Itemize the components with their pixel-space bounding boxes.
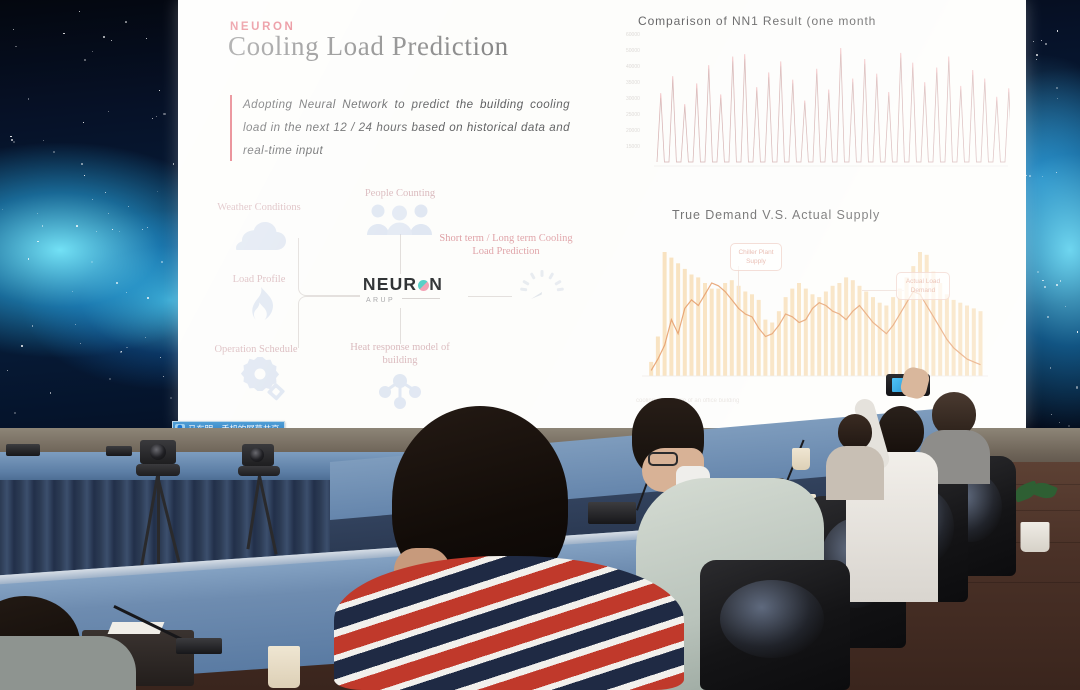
chart-demand-supply-svg — [636, 240, 992, 388]
accent-bar — [230, 95, 232, 161]
cloud-icon — [230, 216, 290, 256]
slide-title: Cooling Load Prediction — [228, 31, 509, 62]
chart-nn1-svg — [652, 32, 1010, 172]
projection-screen: NEURON Cooling Load Prediction Adopting … — [178, 0, 1026, 428]
flow-diagram: Weather Conditions Load Profile Operatio… — [178, 186, 630, 424]
arup-subtitle: ARUP — [338, 297, 468, 304]
chart-demand-supply-plot — [636, 240, 992, 388]
slide-summary-block: Adopting Neural Network to predict the b… — [230, 93, 570, 162]
callout-line-supply — [738, 266, 739, 302]
flame-icon — [244, 286, 278, 330]
connector-heat-model — [400, 308, 401, 344]
diagram-label-people: People Counting — [340, 188, 460, 200]
microphone-base — [176, 638, 222, 654]
neuron-logo: NEURN ARUP — [338, 274, 468, 304]
slide-right-pane: Comparison of NN1 Result (one month 6000… — [630, 0, 1026, 428]
arup-text: ARUP — [366, 297, 395, 304]
diagram-label-prediction: Short term / Long term Cooling Load Pred… — [436, 232, 576, 258]
callout-actual-demand: Actual Load Demand — [896, 272, 950, 300]
diagram-label-operation: Operation Schedule — [192, 344, 320, 356]
chart-title-nn1: Comparison of NN1 Result (one month — [638, 14, 876, 28]
arup-rule — [402, 298, 440, 299]
striped-shirt — [334, 556, 684, 690]
diagram-label-weather: Weather Conditions — [200, 202, 318, 214]
paper-cup — [792, 448, 810, 470]
people-icon — [365, 202, 435, 236]
callout-chiller-supply: Chiller Plant Supply — [730, 243, 782, 271]
chart-title-demand-supply: True Demand V.S. Actual Supply — [672, 208, 880, 222]
microphone-base — [588, 502, 636, 524]
molecule-icon — [374, 370, 426, 410]
gear-icon — [234, 356, 288, 402]
microphone-base — [6, 444, 40, 456]
eyeglasses — [648, 452, 678, 466]
slide-summary-text: Adopting Neural Network to predict the b… — [243, 93, 570, 162]
neuron-word-before: NEUR — [363, 274, 417, 294]
neuron-wordmark: NEURN — [363, 274, 443, 295]
potted-plant — [1008, 482, 1062, 552]
diagram-label-load-profile: Load Profile — [211, 274, 307, 286]
chart-nn1-yaxis: 60000 50000 40000 35000 30000 25000 2000… — [620, 30, 650, 180]
gauge-icon — [516, 268, 568, 310]
slide-left-pane: NEURON Cooling Load Prediction Adopting … — [178, 0, 630, 428]
chart-nn1-plot — [652, 32, 1010, 172]
neuron-o-dot — [418, 280, 429, 291]
diagram-label-heat-model: Heat response model of building — [336, 342, 464, 367]
connector-people — [400, 234, 401, 274]
office-chair — [700, 560, 850, 690]
microphone-base — [106, 446, 132, 456]
paper-cup — [268, 646, 300, 688]
screenshot-root: NEURON Cooling Load Prediction Adopting … — [0, 0, 1080, 690]
connector-output — [468, 296, 512, 297]
neuron-word-after: N — [429, 274, 443, 294]
